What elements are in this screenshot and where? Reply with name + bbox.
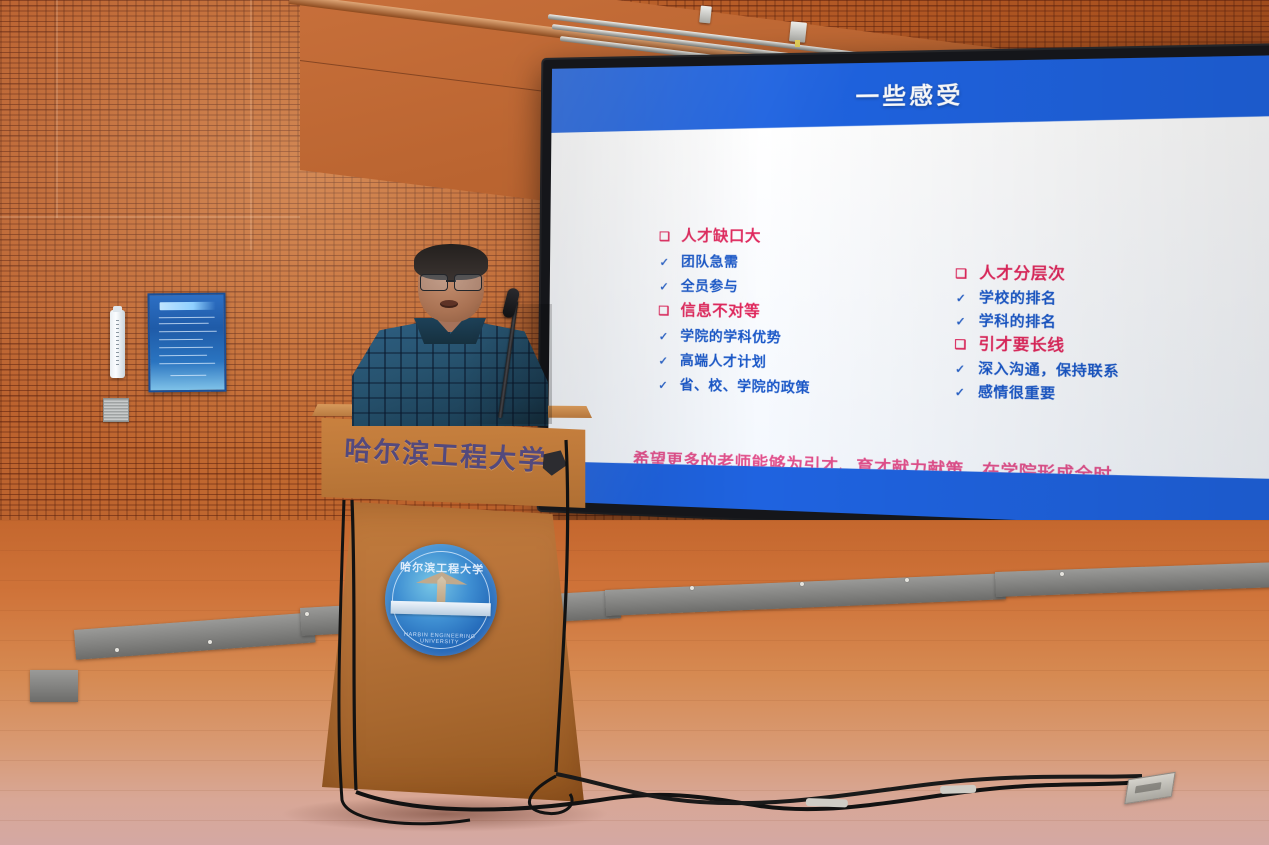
baseboard-screw	[690, 586, 694, 590]
wall-seam	[0, 216, 300, 218]
baseboard-segment	[30, 670, 78, 702]
bullet-text: 团队急需	[681, 250, 739, 271]
bullet-text: 省、校、学院的政策	[680, 373, 811, 397]
rail-clip	[699, 5, 712, 23]
bullet-text: 高端人才计划	[680, 349, 767, 371]
bullet-text: 感情很重要	[978, 380, 1056, 403]
check-bullet-icon: ✓	[657, 332, 670, 343]
baseboard-screw	[208, 640, 212, 644]
bullet-text: 人才分层次	[979, 261, 1065, 284]
bullet-row: ❑人才缺口大	[658, 224, 920, 247]
square-bullet-icon: ❑	[953, 338, 967, 351]
lectern-podium: 哈尔滨工程大学 HARBIN ENGINEERING UNIVERSITY 哈尔…	[300, 404, 600, 845]
screen-display-area: 一些感受 哈尔滨工程大学 HARBIN ENGINEERING UNIVERSI…	[548, 55, 1269, 531]
bullet-column-right: ❑人才分层次 ✓学校的排名 ✓学科的排名 ❑引才要长线 ✓深入沟通，保持联系 ✓…	[953, 261, 1238, 410]
bullet-text: 学院的学科优势	[680, 324, 781, 346]
check-bullet-icon: ✓	[953, 317, 967, 329]
bullet-row: ✓学校的排名	[954, 285, 1237, 310]
bullet-area: ❑人才缺口大 ✓团队急需 ✓全员参与 ❑信息不对等 ✓学院的学科优势 ✓高端人才…	[548, 188, 1269, 442]
thermometer-cap	[113, 306, 122, 312]
thermometer-scale	[116, 320, 119, 368]
presenter-mouth	[440, 300, 458, 308]
bullet-row: ✓团队急需	[658, 250, 920, 273]
baseboard-screw	[905, 578, 909, 582]
bullet-row: ✓感情很重要	[953, 379, 1236, 407]
square-bullet-icon: ❑	[658, 230, 671, 242]
check-bullet-icon: ✓	[658, 258, 671, 269]
check-bullet-icon: ✓	[953, 364, 967, 376]
notice-title-bar	[160, 302, 216, 311]
check-bullet-icon: ✓	[657, 356, 670, 367]
bullet-row: ❑引才要长线	[953, 332, 1236, 360]
bullet-row: ✓学科的排名	[953, 308, 1236, 334]
glasses-right-lens	[454, 274, 482, 291]
bullet-text: 全员参与	[681, 274, 739, 295]
lecture-hall-photo: 一些感受 哈尔滨工程大学 HARBIN ENGINEERING UNIVERSI…	[0, 0, 1269, 845]
bullet-row: ✓省、校、学院的政策	[656, 373, 918, 400]
bullet-text: 学科的排名	[979, 309, 1057, 331]
presentation-slide: 一些感受 哈尔滨工程大学 HARBIN ENGINEERING UNIVERSI…	[548, 55, 1269, 531]
bullet-text: 学校的排名	[979, 285, 1057, 307]
podium-shadow	[280, 796, 610, 832]
glasses-left-lens	[420, 274, 448, 291]
square-bullet-icon: ❑	[657, 305, 670, 317]
projection-screen[interactable]: 一些感受 哈尔滨工程大学 HARBIN ENGINEERING UNIVERSI…	[539, 45, 1269, 542]
rail-tag	[795, 40, 800, 47]
check-bullet-icon: ✓	[657, 282, 670, 293]
check-bullet-icon: ✓	[954, 294, 968, 306]
baseboard-screw	[800, 582, 804, 586]
wall-seam	[250, 0, 252, 250]
slide-title: 一些感受	[551, 61, 1269, 124]
eyeglasses-icon	[420, 274, 482, 289]
square-bullet-icon: ❑	[954, 267, 968, 280]
bullet-row: ❑人才分层次	[954, 261, 1237, 286]
presenter	[352, 244, 552, 424]
check-bullet-icon: ✓	[953, 388, 967, 400]
baseboard-screw	[115, 648, 119, 652]
bullet-text: 引才要长线	[978, 332, 1064, 356]
bullet-row: ✓全员参与	[657, 274, 919, 297]
wall-vent	[103, 398, 129, 422]
bullet-row: ✓学院的学科优势	[657, 324, 919, 349]
bullet-row: ❑信息不对等	[657, 298, 919, 323]
check-bullet-icon: ✓	[656, 381, 669, 392]
bullet-text: 人才缺口大	[681, 224, 761, 246]
bullet-column-left: ❑人才缺口大 ✓团队急需 ✓全员参与 ❑信息不对等 ✓学院的学科优势 ✓高端人才…	[656, 224, 919, 403]
bullet-text: 深入沟通，保持联系	[978, 356, 1119, 380]
wall-thermometer	[110, 310, 125, 378]
bullet-row: ✓高端人才计划	[657, 348, 919, 374]
bullet-text: 信息不对等	[680, 299, 760, 322]
closing-line-1: 希望更多的老师能够为引才、育才献力献策，在学院形成全时	[599, 444, 1256, 496]
baseboard-screw	[1060, 572, 1064, 576]
wall-seam	[56, 0, 58, 218]
slide-body: ❑人才缺口大 ✓团队急需 ✓全员参与 ❑信息不对等 ✓学院的学科优势 ✓高端人才…	[548, 115, 1269, 487]
wall-notice-board	[147, 293, 226, 393]
